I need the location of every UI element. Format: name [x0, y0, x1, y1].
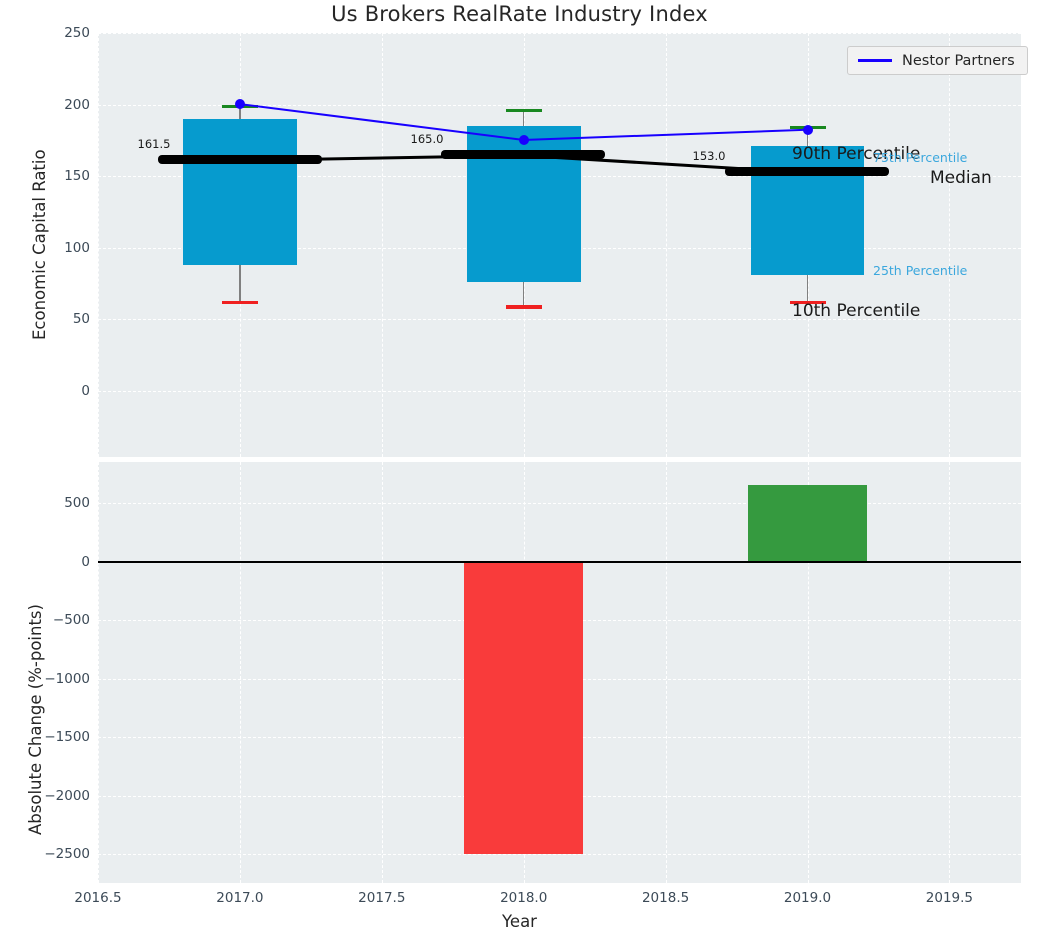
ylabel-absolute-change: Absolute Change (%-points) [26, 604, 45, 835]
gridline-x-2016-5-lower [98, 462, 99, 883]
nestor-marker-2019 [803, 125, 813, 135]
gridline-y-250 [98, 33, 1021, 34]
gridline-x-2019-5 [949, 33, 950, 457]
gridline-x-2018-5-lower [666, 462, 667, 883]
change-bar-2018 [464, 563, 583, 855]
gridline-y-neg2500 [98, 854, 1021, 855]
panel-absolute-change [98, 462, 1021, 883]
iqr-box-2019 [751, 146, 865, 275]
legend[interactable]: Nestor Partners [847, 46, 1028, 75]
gridline-x-2017-5 [382, 33, 383, 457]
ytick-500: 500 [0, 495, 90, 511]
ytick-200: 200 [0, 97, 90, 113]
median-label-2017: 161.5 [138, 137, 171, 151]
nestor-marker-2017 [235, 99, 245, 109]
gridline-x-2016-5 [98, 33, 99, 457]
nestor-marker-2018 [519, 135, 529, 145]
xtick-2017-0: 2017.0 [216, 890, 263, 906]
xtick-2019-5: 2019.5 [926, 890, 973, 906]
median-label-2018: 165.0 [411, 132, 444, 146]
ytick-neg1000: −1000 [0, 671, 90, 687]
ytick-0: 0 [0, 383, 90, 399]
xtick-2016-5: 2016.5 [74, 890, 121, 906]
xtick-2018-0: 2018.0 [500, 890, 547, 906]
cap-90th-2018 [506, 109, 542, 112]
chart-figure: Us Brokers RealRate Industry Index [0, 0, 1039, 942]
ytick-neg2000: −2000 [0, 788, 90, 804]
change-bar-2019 [748, 485, 867, 562]
ytick-neg500: −500 [0, 612, 90, 628]
gridline-x-2018-5 [666, 33, 667, 457]
annotation-75th-percentile: 75th Percentile [873, 150, 967, 165]
annotation-median: Median [930, 168, 992, 188]
xlabel-year: Year [0, 912, 1039, 931]
gridline-y-500 [98, 503, 1021, 504]
cap-10th-2017 [222, 301, 258, 304]
median-label-2019: 153.0 [693, 149, 726, 163]
gridline-x-2019-5-lower [949, 462, 950, 883]
median-bar-2019 [725, 167, 889, 176]
xtick-2017-5: 2017.5 [358, 890, 405, 906]
annotation-25th-percentile: 25th Percentile [873, 263, 967, 278]
panel-economic-capital-ratio: 161.5 165.0 153.0 90th Percentile 75th P… [98, 33, 1021, 457]
gridline-y-0 [98, 391, 1021, 392]
ytick-zero: 0 [0, 554, 90, 570]
median-bar-2017 [158, 155, 322, 164]
zero-axis-line [98, 561, 1021, 563]
gridline-x-2017-5-lower [382, 462, 383, 883]
ytick-250: 250 [0, 25, 90, 41]
xtick-2019-0: 2019.0 [784, 890, 831, 906]
ytick-neg2500: −2500 [0, 846, 90, 862]
xtick-2018-5: 2018.5 [642, 890, 689, 906]
gridline-x-2017-0-lower [240, 462, 241, 883]
legend-line-swatch-nestor-partners [858, 59, 892, 61]
cap-10th-2018 [506, 305, 542, 308]
annotation-10th-percentile: 10th Percentile [792, 301, 920, 321]
iqr-box-2017 [183, 119, 297, 265]
ylabel-economic-capital-ratio: Economic Capital Ratio [30, 149, 49, 340]
ytick-neg1500: −1500 [0, 729, 90, 745]
legend-label-nestor-partners: Nestor Partners [902, 53, 1015, 69]
median-bar-2018 [441, 150, 605, 159]
chart-title: Us Brokers RealRate Industry Index [0, 2, 1039, 26]
